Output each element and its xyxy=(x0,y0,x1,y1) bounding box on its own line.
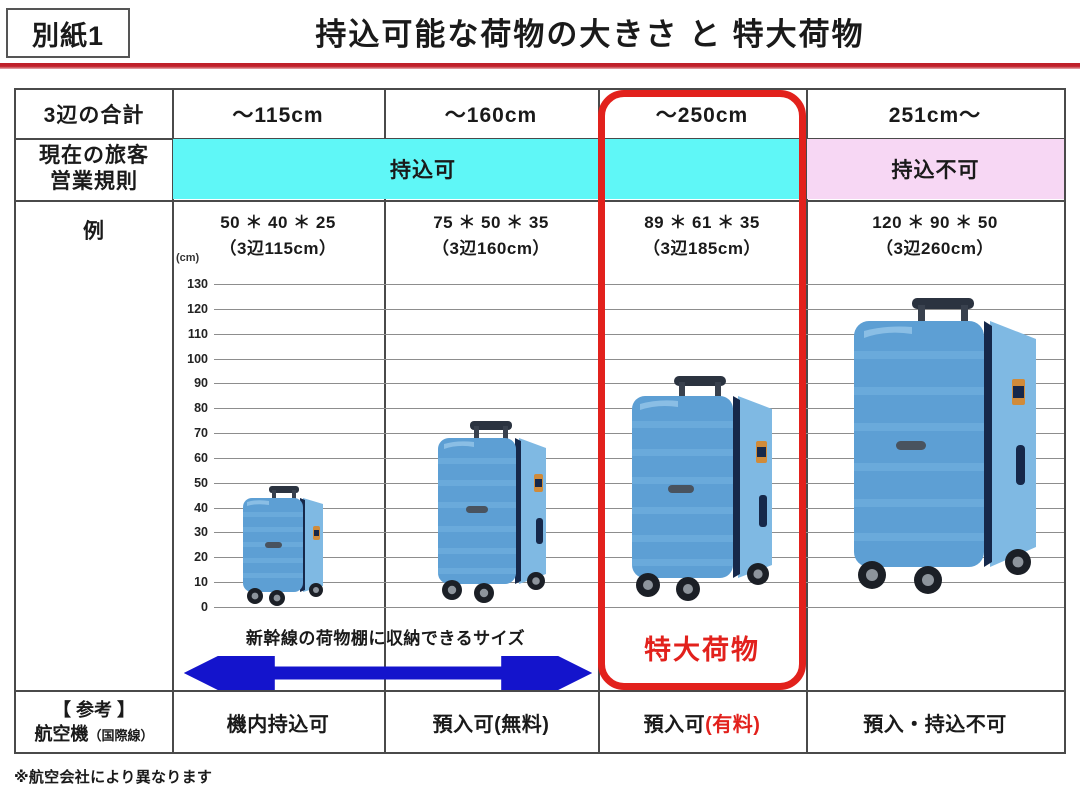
chart-gridline xyxy=(214,483,1064,484)
chart-y-tick: 50 xyxy=(174,476,208,490)
suitcase-illustration-0 xyxy=(231,482,339,608)
example-dims-3: 120 ＊ 90 ＊ 50 （3辺260cm） xyxy=(806,210,1064,261)
column-header-size-3: 251cm～ xyxy=(806,90,1064,138)
row-label-example: 例 xyxy=(16,200,172,264)
chart-y-tick: 10 xyxy=(174,575,208,589)
size-range-arrow xyxy=(180,656,596,690)
chart-gridline xyxy=(214,284,1064,285)
oversize-luggage-label: 特大荷物 xyxy=(598,618,806,676)
chart-y-tick: 60 xyxy=(174,451,208,465)
chart-y-tick: 120 xyxy=(174,302,208,316)
example-total-value-2: （3辺185cm） xyxy=(598,236,806,262)
air-rule-2-paid: (有料) xyxy=(705,708,760,737)
chart-gridline xyxy=(214,458,1064,459)
chart-gridline xyxy=(214,508,1064,509)
shinkansen-shelf-note: 新幹線の荷物棚に収納できるサイズ xyxy=(173,624,598,649)
luggage-size-table: 3辺の合計 ～115cm ～160cm ～250cm 251cm～ 現在の旅客 … xyxy=(14,88,1066,754)
example-dims-value-0: 50 ＊ 40 ＊ 25 xyxy=(172,210,384,236)
chart-y-tick: 0 xyxy=(174,600,208,614)
chart-gridline xyxy=(214,383,1064,384)
air-rule-2: 預入可(有料) xyxy=(598,690,806,754)
air-rule-1: 預入可(無料) xyxy=(384,690,598,754)
row-label-current-rule: 現在の旅客 営業規則 xyxy=(16,138,172,200)
page-title: 持込可能な荷物の大きさ と 特大荷物 xyxy=(150,6,1030,56)
example-dims-value-1: 75 ＊ 50 ＊ 35 xyxy=(384,210,598,236)
row-label-current-rule-line1: 現在の旅客 xyxy=(39,143,149,169)
rule-band-allowed-label: 持込可 xyxy=(173,139,673,199)
chart-gridline xyxy=(214,309,1064,310)
chart-y-tick: 80 xyxy=(174,401,208,415)
air-rule-0: 機内持込可 xyxy=(172,690,384,754)
example-total-value-1: （3辺160cm） xyxy=(384,236,598,262)
chart-gridline xyxy=(214,582,1064,583)
chart-y-tick: 110 xyxy=(174,327,208,341)
example-dims-0: 50 ＊ 40 ＊ 25 （3辺115cm） xyxy=(172,210,384,261)
example-dims-2: 89 ＊ 61 ＊ 35 （3辺185cm） xyxy=(598,210,806,261)
rule-band-not-allowed-label: 持込不可 xyxy=(807,139,1064,199)
footnote: ※航空会社により異なります xyxy=(14,766,212,787)
chart-y-tick: 100 xyxy=(174,352,208,366)
column-header-size-2: ～250cm xyxy=(598,90,806,138)
chart-gridline xyxy=(214,433,1064,434)
chart-y-tick: 90 xyxy=(174,376,208,390)
column-header-size-0: ～115cm xyxy=(172,90,384,138)
row-label-reference: 【 参考 】 航空機（国際線） xyxy=(16,690,172,754)
example-dims-value-3: 120 ＊ 90 ＊ 50 xyxy=(806,210,1064,236)
chart-y-tick: 70 xyxy=(174,426,208,440)
row-divider-rule xyxy=(16,200,1064,202)
column-header-size-1: ～160cm xyxy=(384,90,598,138)
example-dims-value-2: 89 ＊ 61 ＊ 35 xyxy=(598,210,806,236)
page-header: 別紙1 持込可能な荷物の大きさ と 特大荷物 xyxy=(0,0,1080,72)
suitcase-illustration-3 xyxy=(840,295,1070,608)
chart-gridline xyxy=(214,607,1064,608)
chart-y-tick: 30 xyxy=(174,525,208,539)
chart-y-tick: 20 xyxy=(174,550,208,564)
example-dims-1: 75 ＊ 50 ＊ 35 （3辺160cm） xyxy=(384,210,598,261)
chart-gridline xyxy=(214,408,1064,409)
chart-gridline xyxy=(214,532,1064,533)
title-underline-rule xyxy=(0,63,1080,69)
example-total-value-0: （3辺115cm） xyxy=(172,236,384,262)
suitcase-illustration-2 xyxy=(616,373,796,608)
suitcase-illustration-1 xyxy=(424,418,564,608)
chart-y-tick: 130 xyxy=(174,277,208,291)
chart-y-tick: 40 xyxy=(174,501,208,515)
example-total-value-3: （3辺260cm） xyxy=(806,236,1064,262)
row-label-current-rule-line2: 営業規則 xyxy=(50,169,138,195)
chart-gridline xyxy=(214,557,1064,558)
air-rule-3: 預入・持込不可 xyxy=(806,690,1064,754)
chart-gridline xyxy=(214,334,1064,335)
document-tag: 別紙1 xyxy=(6,8,130,58)
row-label-reference-line1: 【 参考 】 xyxy=(16,698,172,722)
air-rule-2-main: 預入可 xyxy=(644,708,706,737)
chart-gridline xyxy=(214,359,1064,360)
row-label-total-dimensions: 3辺の合計 xyxy=(16,90,172,138)
row-label-reference-sub: （国際線） xyxy=(88,728,153,743)
row-label-reference-line2: 航空機 xyxy=(34,724,88,744)
